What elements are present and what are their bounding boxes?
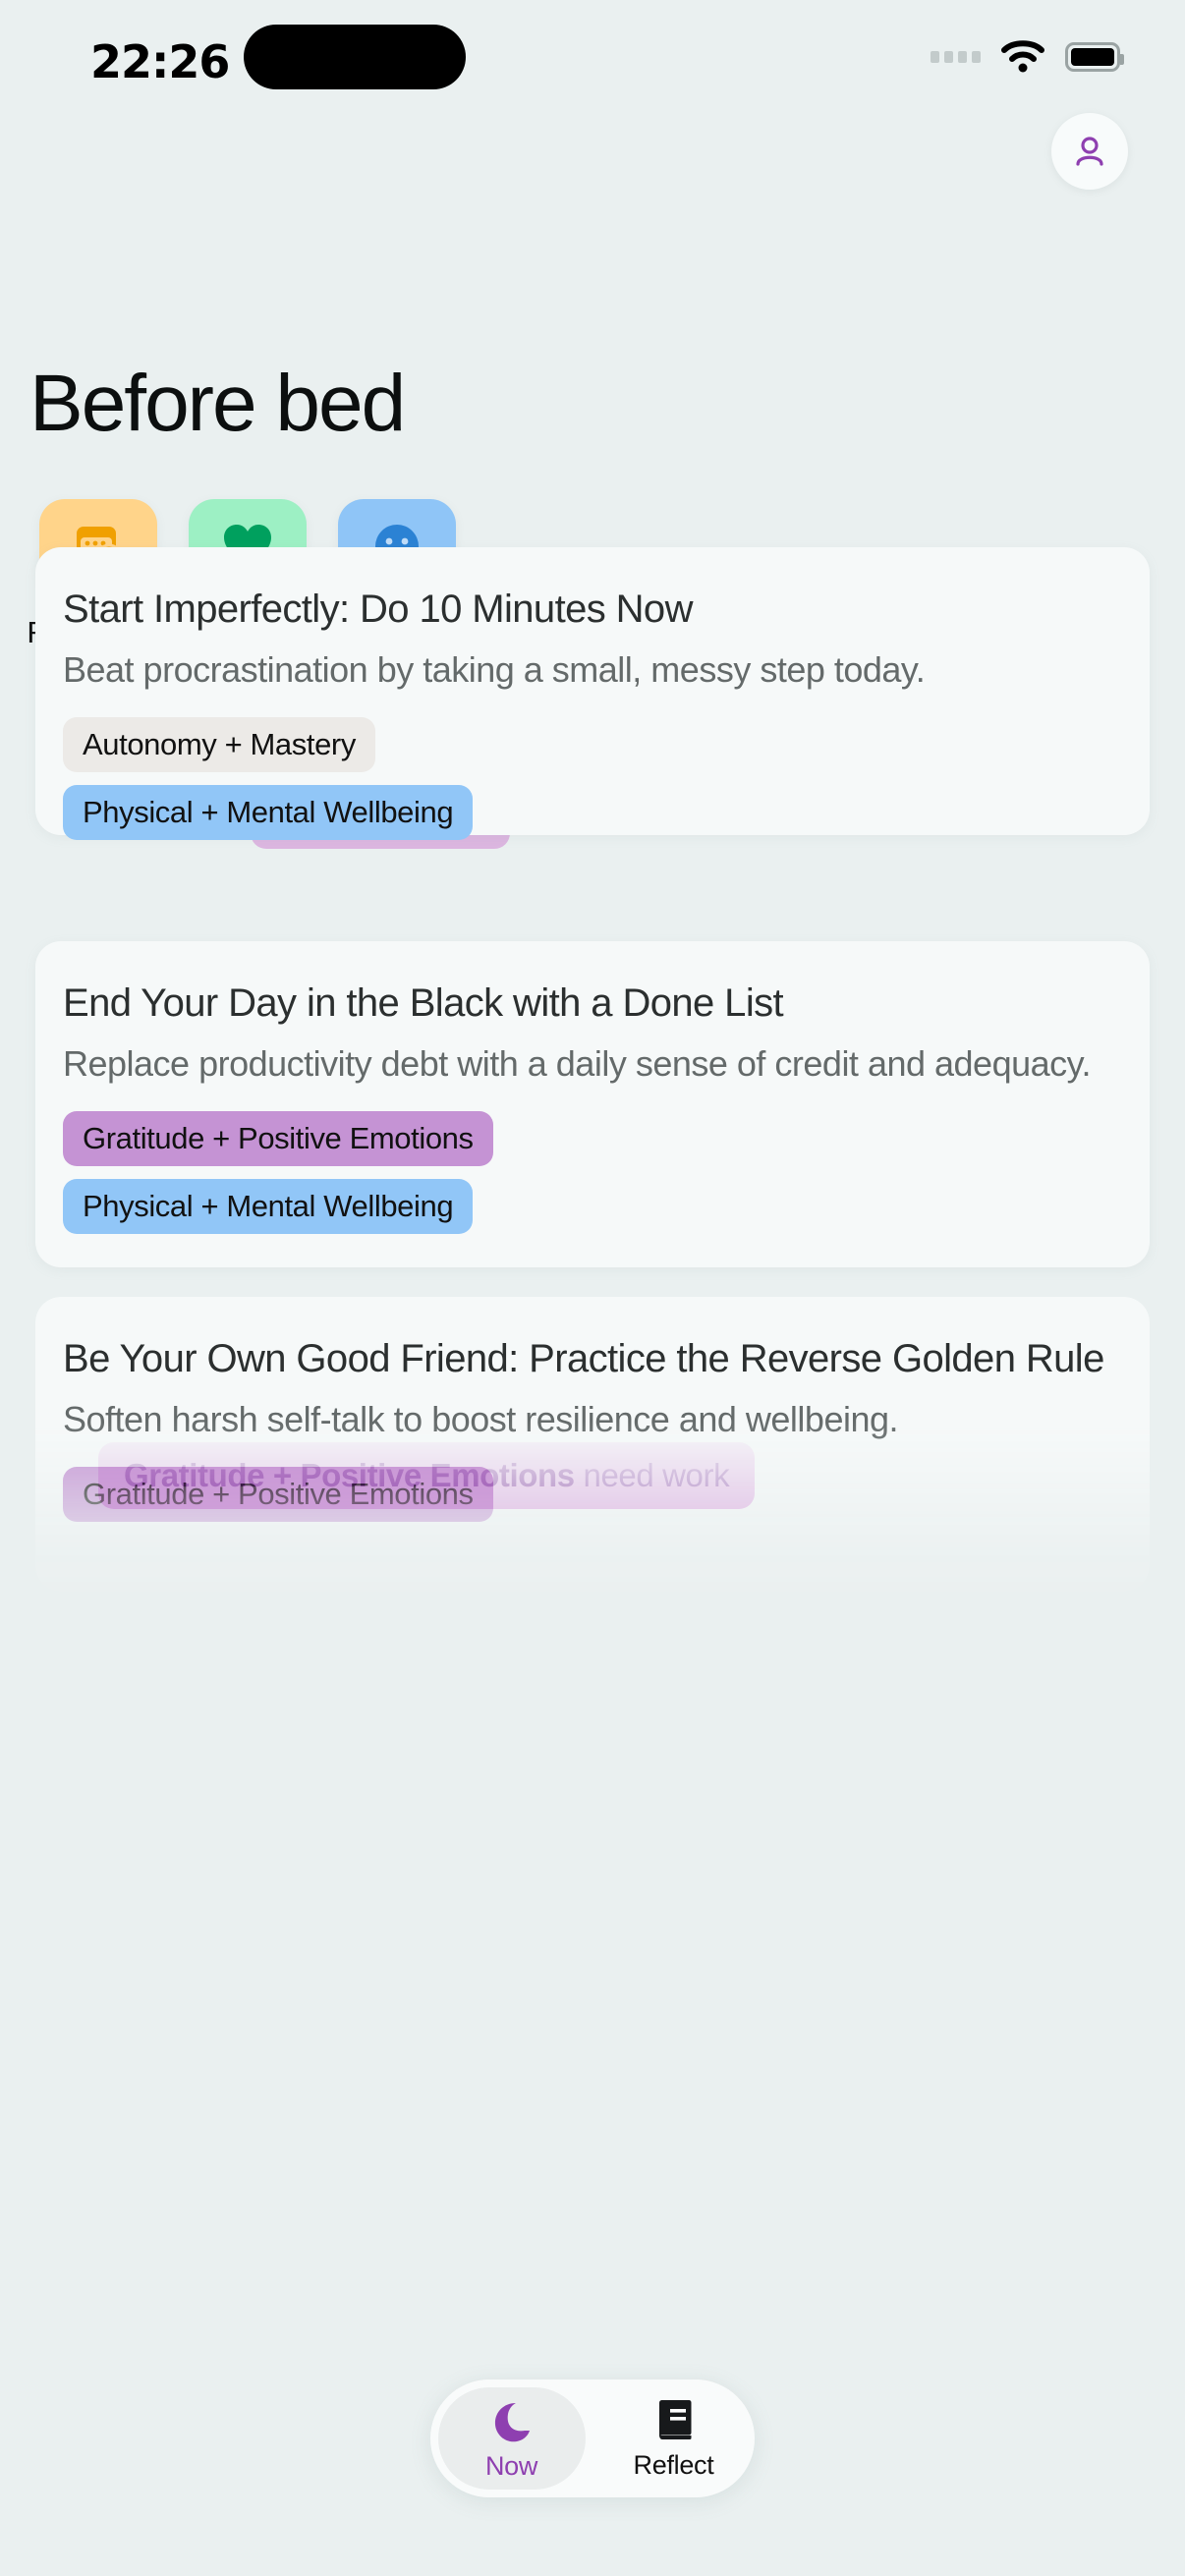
nav-item-now[interactable]: Now [438, 2387, 586, 2490]
card-tags: Gratitude + Positive Emotions [63, 1467, 1122, 1522]
profile-avatar-button[interactable] [1051, 113, 1128, 190]
status-bar-clock: 22:26 [90, 35, 229, 88]
person-icon [1070, 132, 1109, 171]
battery-icon [1065, 42, 1120, 72]
card-tag[interactable]: Autonomy + Mastery [63, 717, 375, 772]
bottom-navigation-bar: Now Reflect [430, 2380, 755, 2497]
suggestion-card[interactable]: Start Imperfectly: Do 10 Minutes Now Bea… [35, 547, 1150, 835]
app-screen: 22:26 Before bed [0, 0, 1185, 2576]
card-tag[interactable]: Physical + Mental Wellbeing [63, 785, 473, 840]
nav-label-now: Now [485, 2451, 537, 2482]
wifi-icon [1000, 39, 1045, 75]
dynamic-island [244, 25, 466, 89]
status-bar: 22:26 [0, 0, 1185, 116]
nav-item-reflect[interactable]: Reflect [600, 2387, 748, 2490]
card-tags: Autonomy + Mastery Physical + Mental Wel… [63, 717, 1122, 840]
card-title: End Your Day in the Black with a Done Li… [63, 980, 1122, 1027]
card-tag[interactable]: Gratitude + Positive Emotions [63, 1111, 493, 1166]
suggestion-card[interactable]: End Your Day in the Black with a Done Li… [35, 941, 1150, 1267]
suggestion-card[interactable]: Be Your Own Good Friend: Practice the Re… [35, 1297, 1150, 1592]
page-title: Before bed [29, 364, 404, 444]
signal-dots-icon [931, 51, 981, 63]
card-tag[interactable]: Gratitude + Positive Emotions [63, 1467, 493, 1522]
moon-icon [486, 2396, 537, 2447]
card-description: Soften harsh self-talk to boost resilien… [63, 1398, 1122, 1441]
status-bar-indicators [931, 39, 1120, 75]
card-tag[interactable]: Physical + Mental Wellbeing [63, 1179, 473, 1234]
card-title: Start Imperfectly: Do 10 Minutes Now [63, 587, 1122, 633]
card-tags: Gratitude + Positive Emotions Physical +… [63, 1111, 1122, 1234]
book-icon [649, 2397, 699, 2446]
card-description: Replace productivity debt with a daily s… [63, 1042, 1122, 1086]
nav-label-reflect: Reflect [634, 2450, 714, 2481]
card-title: Be Your Own Good Friend: Practice the Re… [63, 1336, 1122, 1382]
card-description: Beat procrastination by taking a small, … [63, 648, 1122, 692]
